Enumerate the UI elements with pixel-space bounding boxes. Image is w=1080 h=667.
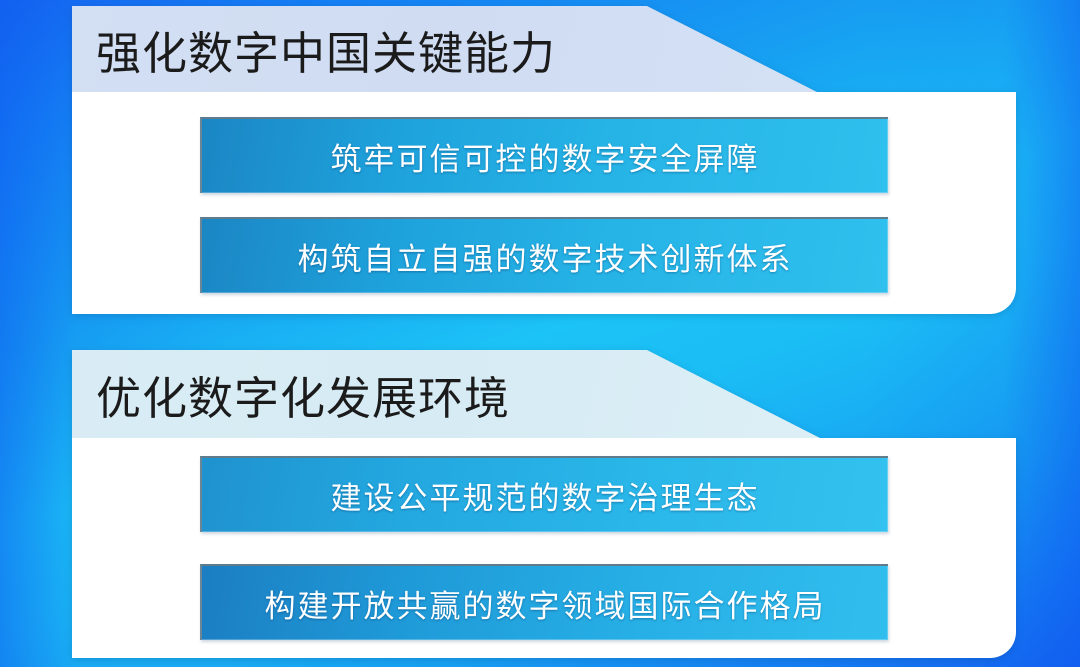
card-1-body: 筑牢可信可控的数字安全屏障 构筑自立自强的数字技术创新体系 (72, 92, 1016, 314)
card-1-item-2[interactable]: 构筑自立自强的数字技术创新体系 (200, 217, 888, 293)
card-2-header: 优化数字化发展环境 (72, 350, 1016, 438)
card-optimize-environment: 优化数字化发展环境 建设公平规范的数字治理生态 构建开放共赢的数字领域国际合作格… (72, 350, 1016, 658)
card-1-header: 强化数字中国关键能力 (72, 6, 1016, 92)
card-1-title: 强化数字中国关键能力 (96, 17, 556, 82)
card-1-item-2-label: 构筑自立自强的数字技术创新体系 (298, 234, 793, 279)
infographic-slide: 强化数字中国关键能力 筑牢可信可控的数字安全屏障 构筑自立自强的数字技术创新体系… (0, 0, 1080, 667)
card-2-item-2-label: 构建开放共赢的数字领域国际合作格局 (265, 581, 826, 626)
card-2-item-1[interactable]: 建设公平规范的数字治理生态 (200, 456, 888, 532)
card-2-title: 优化数字化发展环境 (96, 362, 510, 427)
card-2-item-1-label: 建设公平规范的数字治理生态 (331, 473, 760, 518)
card-2-body: 建设公平规范的数字治理生态 构建开放共赢的数字领域国际合作格局 (72, 438, 1016, 658)
card-2-item-2[interactable]: 构建开放共赢的数字领域国际合作格局 (200, 564, 888, 640)
card-1-item-1[interactable]: 筑牢可信可控的数字安全屏障 (200, 117, 888, 193)
card-1-item-1-label: 筑牢可信可控的数字安全屏障 (331, 134, 760, 179)
card-strengthen-capabilities: 强化数字中国关键能力 筑牢可信可控的数字安全屏障 构筑自立自强的数字技术创新体系 (72, 6, 1016, 314)
